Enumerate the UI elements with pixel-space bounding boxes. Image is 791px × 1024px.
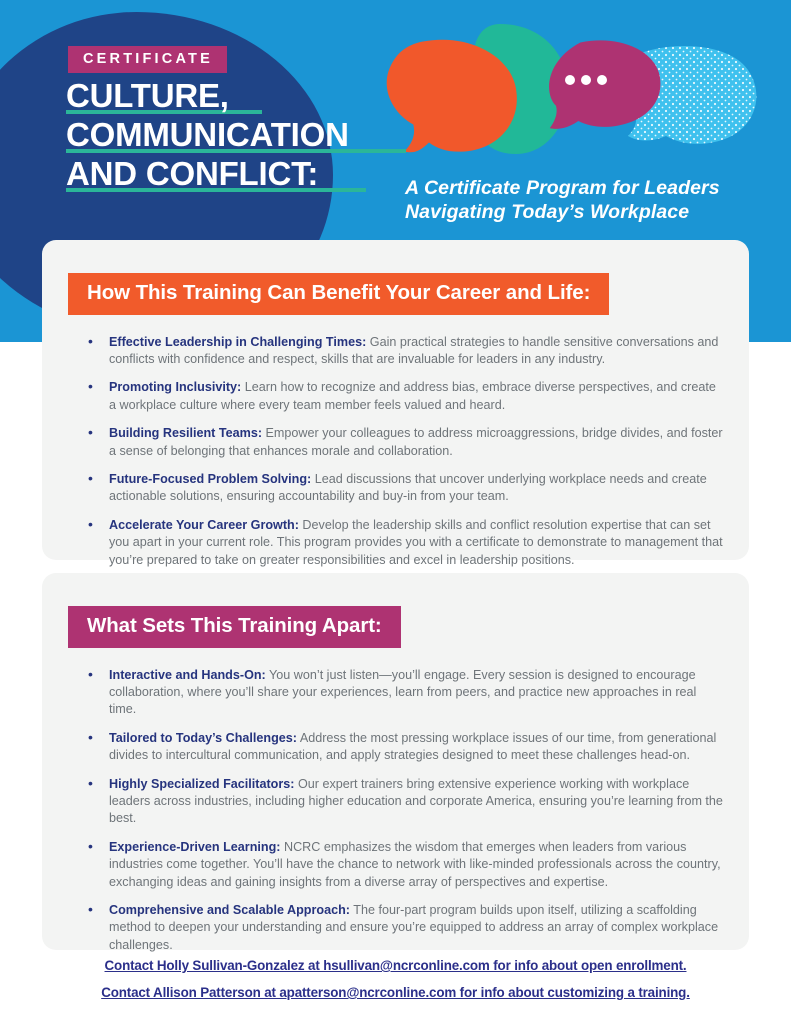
list-item: Interactive and Hands-On: You won’t just… — [86, 667, 725, 719]
list-item: Experience-Driven Learning: NCRC emphasi… — [86, 839, 725, 891]
list-item: Comprehensive and Scalable Approach: The… — [86, 902, 725, 954]
page-title: CULTURE, COMMUNICATION AND CONFLICT: — [66, 78, 426, 195]
apart-bullet-list: Interactive and Hands-On: You won’t just… — [86, 667, 725, 955]
list-item: Promoting Inclusivity: Learn how to reco… — [86, 379, 725, 414]
page-subtitle: A Certificate Program for Leaders Naviga… — [405, 176, 720, 224]
benefits-section-heading: How This Training Can Benefit Your Caree… — [68, 273, 609, 315]
title-line-1-text: CULTURE, — [66, 77, 229, 114]
list-item-lead: Experience-Driven Learning: — [109, 840, 280, 854]
list-item-lead: Comprehensive and Scalable Approach: — [109, 903, 350, 917]
list-item: Building Resilient Teams: Empower your c… — [86, 425, 725, 460]
list-item: Accelerate Your Career Growth: Develop t… — [86, 517, 725, 569]
list-item-lead: Interactive and Hands-On: — [109, 668, 266, 682]
title-line-3: AND CONFLICT: — [66, 156, 426, 192]
benefits-card: How This Training Can Benefit Your Caree… — [42, 240, 749, 560]
list-item-lead: Building Resilient Teams: — [109, 426, 262, 440]
title-line-2: COMMUNICATION — [66, 117, 426, 153]
list-item-lead: Accelerate Your Career Growth: — [109, 518, 299, 532]
list-item: Future-Focused Problem Solving: Lead dis… — [86, 471, 725, 506]
list-item-lead: Effective Leadership in Challenging Time… — [109, 335, 366, 349]
title-line-3-text: AND CONFLICT: — [66, 155, 318, 192]
flyer-page: CERTIFICATE CULTURE, COMMUNICATION AND C… — [0, 0, 791, 1024]
benefits-bullet-list: Effective Leadership in Challenging Time… — [86, 334, 725, 569]
list-item-lead: Future-Focused Problem Solving: — [109, 472, 311, 486]
subtitle-line-1: A Certificate Program for Leaders — [405, 176, 720, 200]
list-item: Effective Leadership in Challenging Time… — [86, 334, 725, 369]
subtitle-line-2: Navigating Today’s Workplace — [405, 200, 720, 224]
list-item: Tailored to Today’s Challenges: Address … — [86, 730, 725, 765]
title-line-2-text: COMMUNICATION — [66, 116, 349, 153]
list-item-lead: Tailored to Today’s Challenges: — [109, 731, 297, 745]
certificate-badge: CERTIFICATE — [68, 46, 227, 73]
apart-card: What Sets This Training Apart: Interacti… — [42, 573, 749, 950]
apart-section-heading: What Sets This Training Apart: — [68, 606, 401, 648]
list-item: Highly Specialized Facilitators: Our exp… — [86, 776, 725, 828]
contact-link-enrollment[interactable]: Contact Holly Sullivan-Gonzalez at hsull… — [0, 958, 791, 973]
footer-contacts: Contact Holly Sullivan-Gonzalez at hsull… — [0, 958, 791, 1012]
contact-link-customizing[interactable]: Contact Allison Patterson at apatterson@… — [0, 985, 791, 1000]
title-line-1: CULTURE, — [66, 78, 426, 114]
list-item-lead: Highly Specialized Facilitators: — [109, 777, 294, 791]
list-item-lead: Promoting Inclusivity: — [109, 380, 241, 394]
speech-bubble-cluster — [370, 18, 770, 188]
